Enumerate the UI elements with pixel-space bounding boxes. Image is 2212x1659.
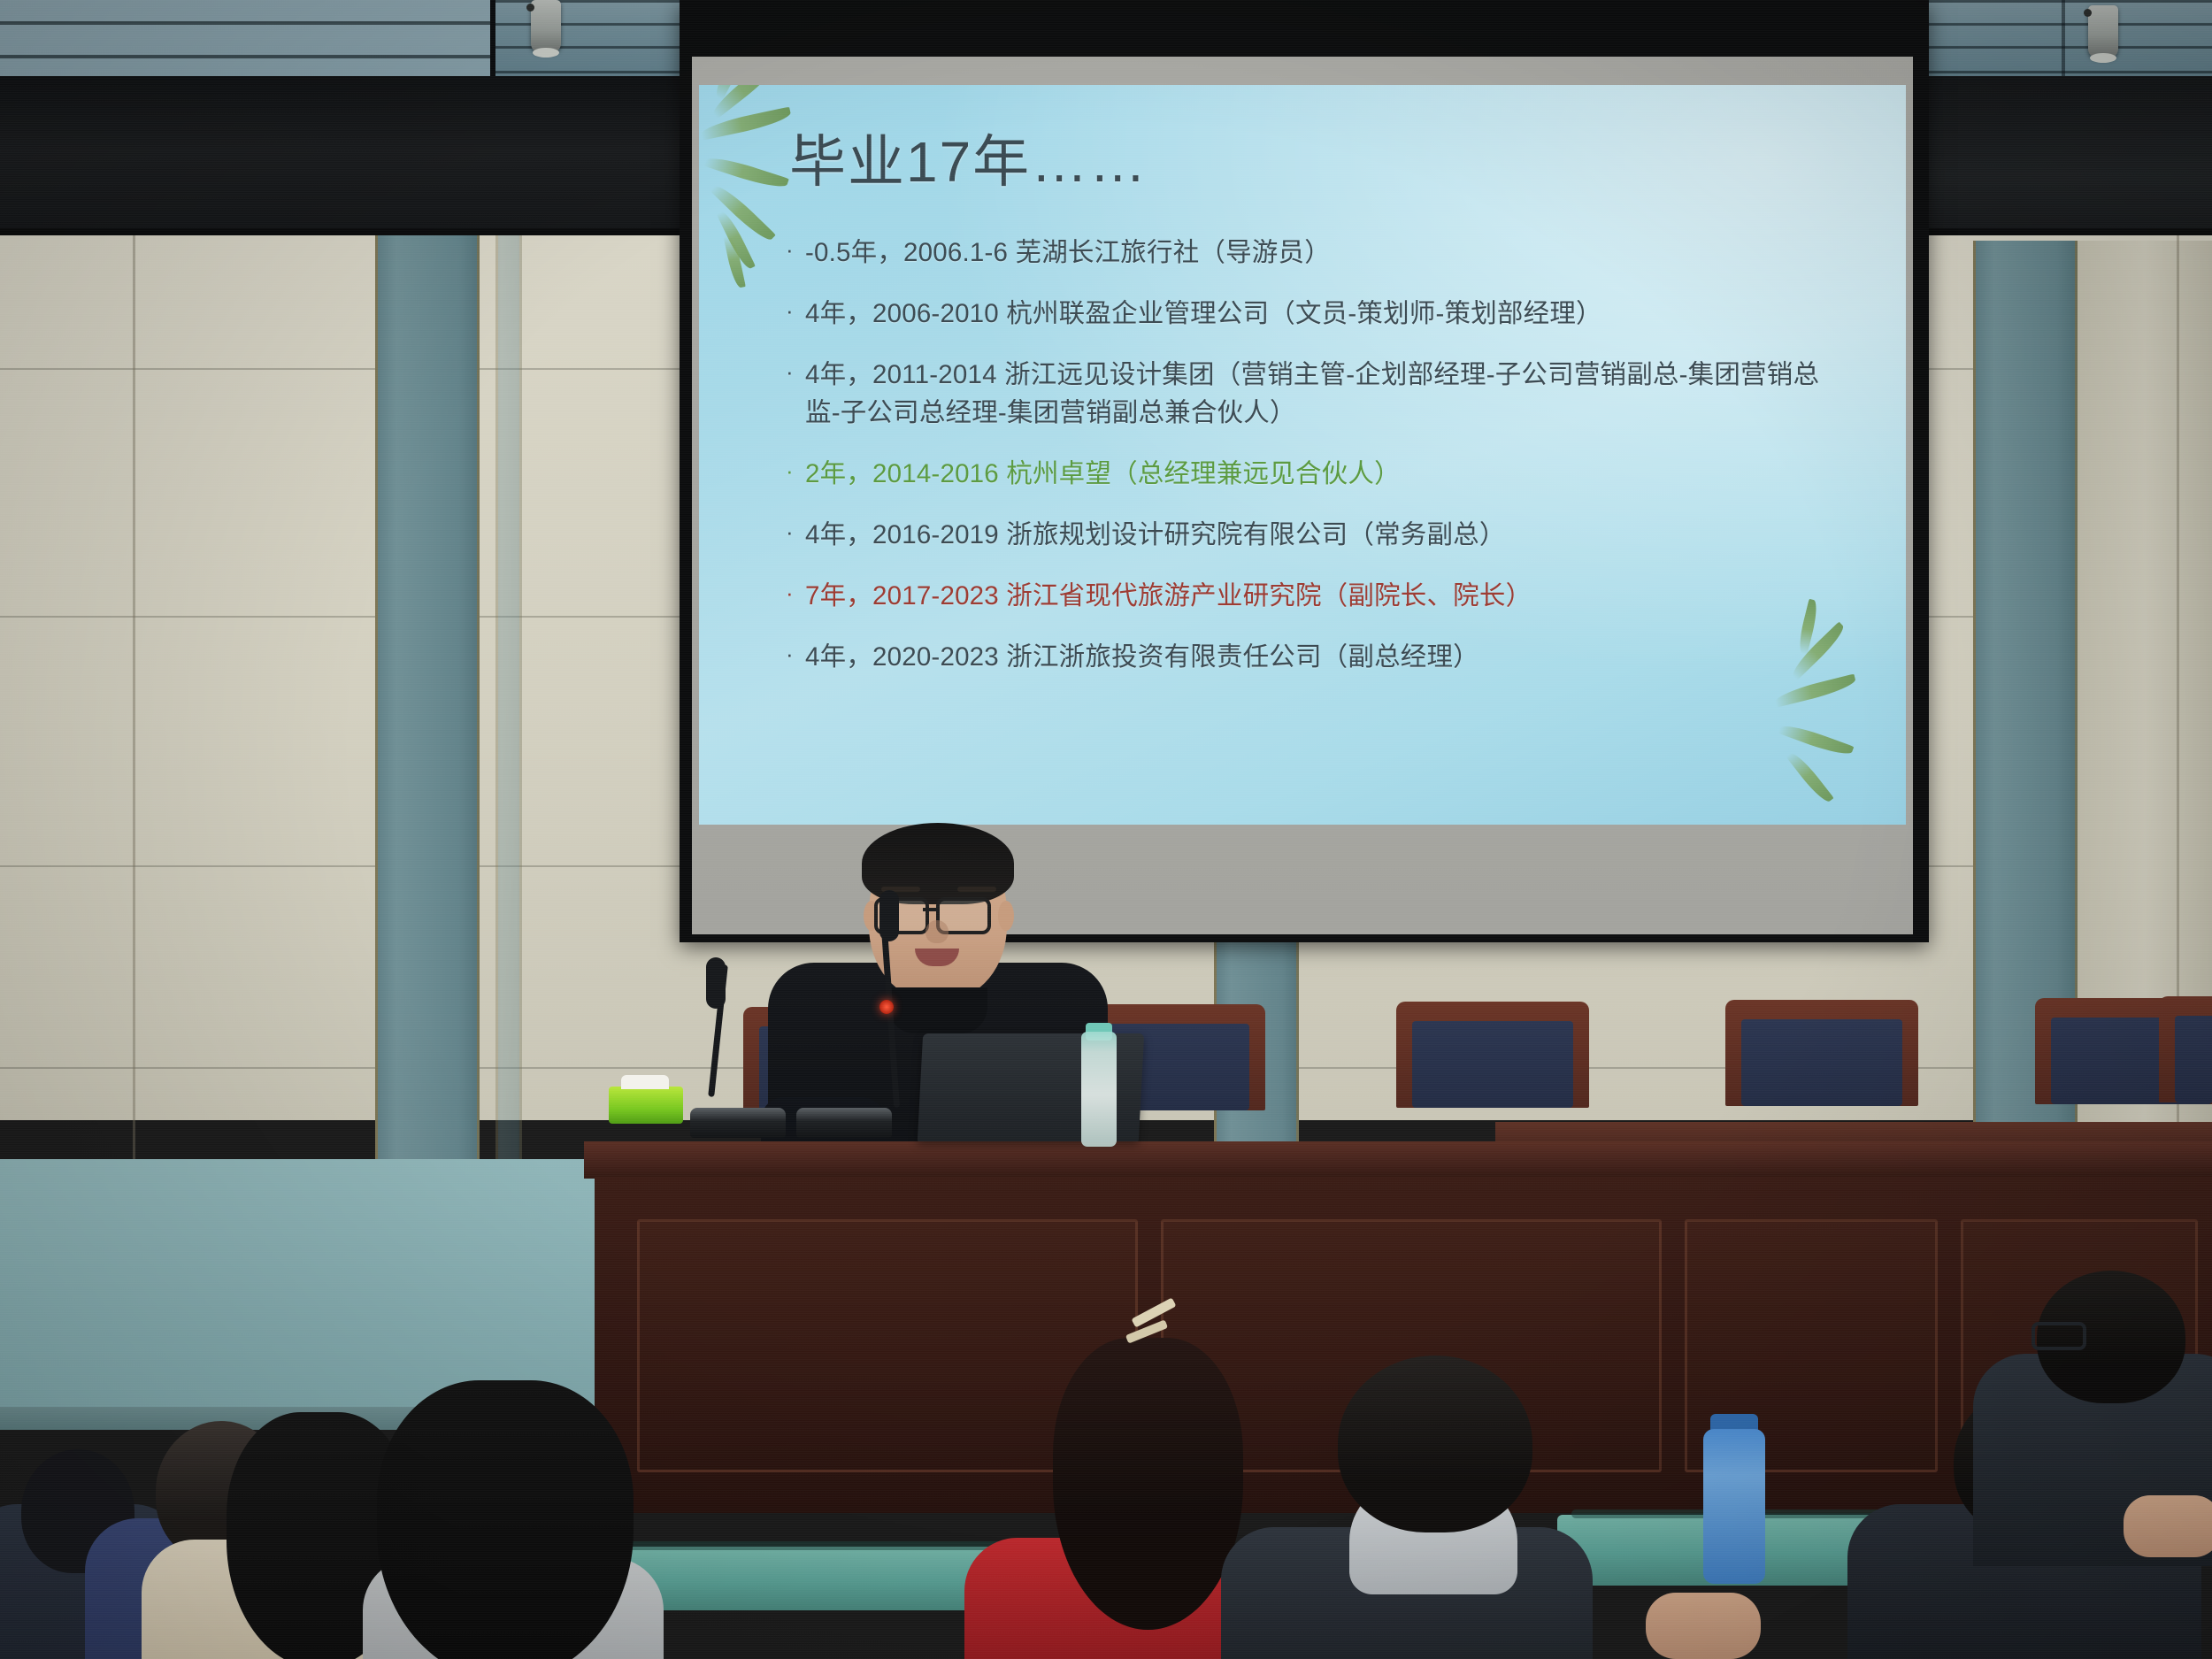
presentation-slide: 毕业17年…… · -0.5年，2006.1-6 芜湖长江旅行社（导游员） · … bbox=[699, 85, 1906, 825]
slide-bullet-2: · 4年，2006-2010 杭州联盈企业管理公司（文员-策划师-策划部经理） bbox=[786, 295, 1847, 333]
bullet-marker-1: · bbox=[786, 234, 805, 267]
slide-bullet-3: · 4年，2011-2014 浙江远见设计集团（营销主管-企划部经理-子公司营销… bbox=[786, 356, 1847, 432]
conference-chair-6 bbox=[2159, 996, 2212, 1102]
bullet-marker-6: · bbox=[786, 577, 805, 611]
bullet-text-2: 4年，2006-2010 杭州联盈企业管理公司（文员-策划师-策划部经理） bbox=[805, 295, 1847, 333]
slide-bullet-7: · 4年，2020-2023 浙江浙旅投资有限责任公司（副总经理） bbox=[786, 638, 1847, 676]
microphone-base-1 bbox=[690, 1108, 786, 1138]
bullet-text-5: 4年，2016-2019 浙旅规划设计研究院有限公司（常务副总） bbox=[805, 516, 1847, 554]
audience-gray-hair bbox=[377, 1380, 634, 1659]
eyeglasses-bridge bbox=[923, 908, 937, 911]
slide-bullet-1: · -0.5年，2006.1-6 芜湖长江旅行社（导游员） bbox=[786, 234, 1847, 272]
bullet-text-3: 4年，2011-2014 浙江远见设计集团（营销主管-企划部经理-子公司营销副总… bbox=[805, 356, 1847, 432]
audience-teen-glasses-icon bbox=[2032, 1322, 2086, 1350]
microphone-head-1 bbox=[706, 957, 726, 1009]
audience-hoodie-head bbox=[1338, 1356, 1532, 1532]
wall-column-center-left bbox=[495, 235, 522, 1173]
audience-red-hair bbox=[1053, 1338, 1243, 1630]
speaker-collar bbox=[888, 987, 987, 1033]
slide-title: 毕业17年…… bbox=[789, 117, 1148, 198]
bullet-text-1: -0.5年，2006.1-6 芜湖长江旅行社（导游员） bbox=[805, 234, 1847, 272]
slide-bullet-list: · -0.5年，2006.1-6 芜湖长江旅行社（导游员） · 4年，2006-… bbox=[786, 234, 1847, 700]
bullet-text-7: 4年，2020-2023 浙江浙旅投资有限责任公司（副总经理） bbox=[805, 638, 1847, 676]
slide-bullet-6-highlight-red: · 7年，2017-2023 浙江省现代旅游产业研究院（副院长、院长） bbox=[786, 577, 1847, 615]
ceiling-spotlight-right bbox=[2088, 5, 2118, 58]
table-surface bbox=[584, 1141, 2212, 1179]
wall-column-left bbox=[375, 235, 480, 1173]
tissue-box bbox=[609, 1087, 683, 1124]
microphone-base-2 bbox=[796, 1108, 892, 1138]
speaker-brow-right bbox=[957, 887, 996, 892]
audience-hand bbox=[1646, 1593, 1761, 1659]
bullet-marker-3: · bbox=[786, 356, 805, 389]
speaker-nose bbox=[926, 920, 949, 943]
lecture-hall-scene: 毕业17年…… · -0.5年，2006.1-6 芜湖长江旅行社（导游员） · … bbox=[0, 0, 2212, 1659]
bullet-marker-4: · bbox=[786, 455, 805, 488]
ceiling-spotlight-left bbox=[531, 0, 561, 53]
bullet-marker-5: · bbox=[786, 516, 805, 549]
conference-chair-3 bbox=[1396, 1002, 1589, 1108]
bullet-text-6: 7年，2017-2023 浙江省现代旅游产业研究院（副院长、院长） bbox=[805, 577, 1847, 615]
audience-water-bottle bbox=[1703, 1429, 1765, 1584]
slide-bullet-5: · 4年，2016-2019 浙旅规划设计研究院有限公司（常务副总） bbox=[786, 516, 1847, 554]
microphone-led-indicator bbox=[879, 1000, 894, 1014]
conference-chair-4 bbox=[1725, 1000, 1918, 1106]
bullet-marker-2: · bbox=[786, 295, 805, 328]
audience-hand-2 bbox=[2124, 1495, 2212, 1557]
slide-bullet-4-highlight-green: · 2年，2014-2016 杭州卓望（总经理兼远见合伙人） bbox=[786, 455, 1847, 493]
water-bottle bbox=[1081, 1032, 1117, 1147]
bullet-marker-7: · bbox=[786, 638, 805, 672]
microphone-head-2 bbox=[879, 890, 899, 941]
speaker-ear-right bbox=[998, 901, 1014, 931]
bullet-text-4: 2年，2014-2016 杭州卓望（总经理兼远见合伙人） bbox=[805, 455, 1847, 493]
